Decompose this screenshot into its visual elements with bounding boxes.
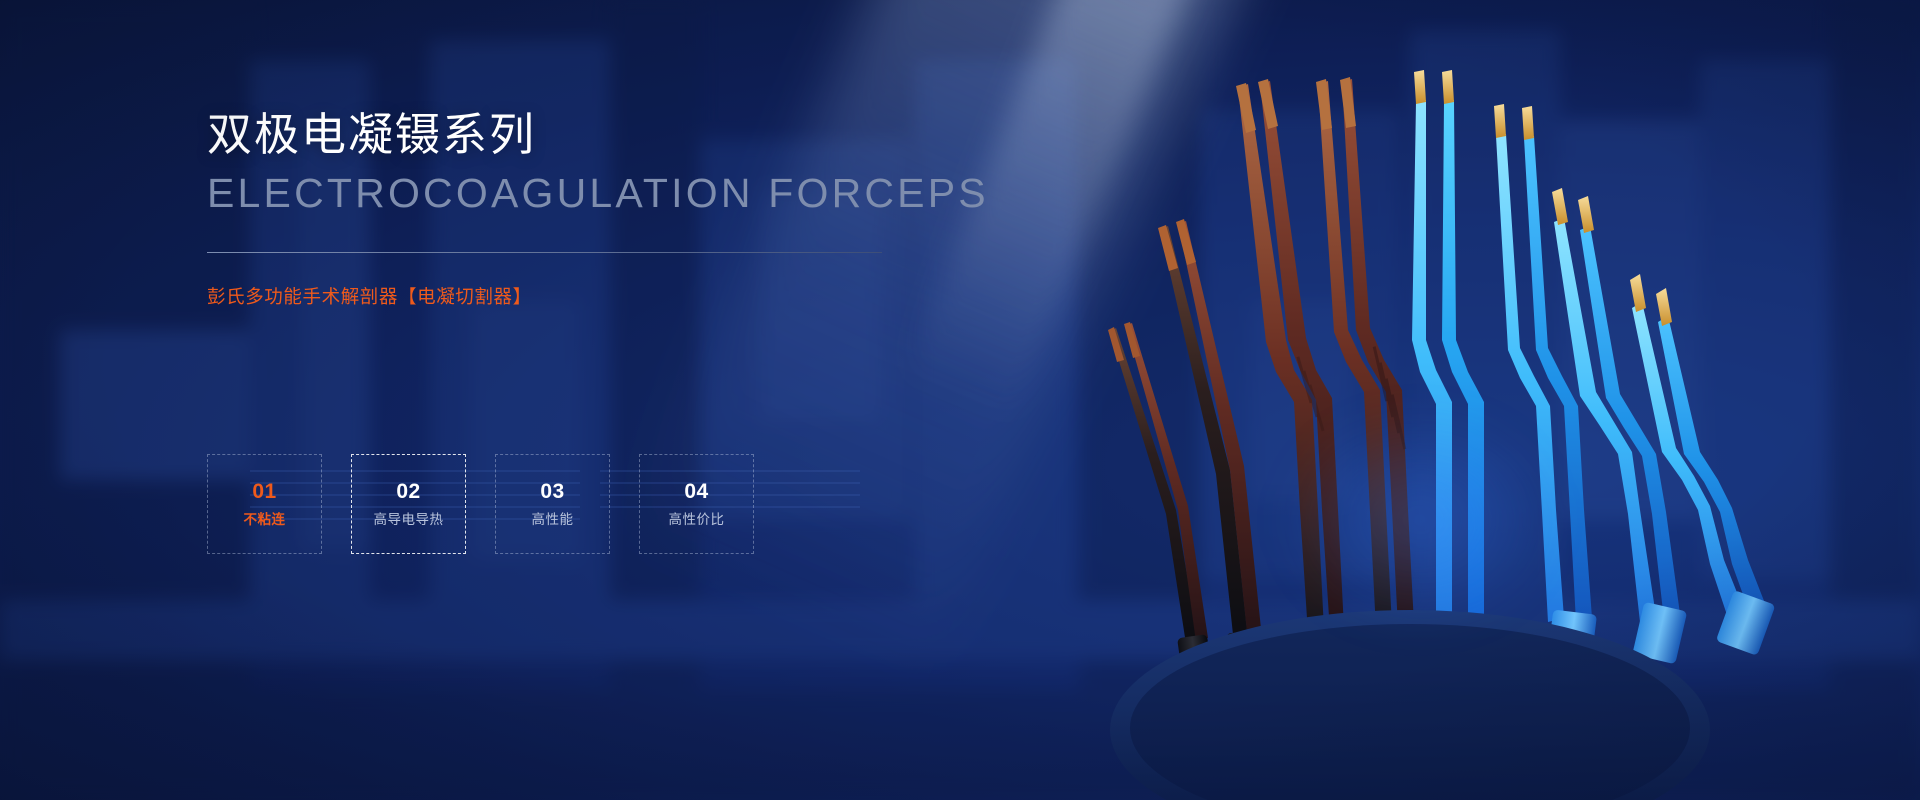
forceps-blue-5 <box>1412 70 1484 668</box>
feature-box-01[interactable]: 01 不粘连 <box>207 454 322 554</box>
feature-number: 03 <box>540 481 564 502</box>
product-banner: 双极电凝镊系列 ELECTROCOAGULATION FORCEPS 彭氏多功能… <box>0 0 1920 800</box>
divider-line <box>207 252 882 253</box>
product-image-forceps-fan <box>1080 40 1640 760</box>
page-title-cn: 双极电凝镊系列 <box>207 110 907 160</box>
forceps-dark-2 <box>1158 219 1262 681</box>
feature-label: 不粘连 <box>244 513 286 527</box>
feature-number: 02 <box>396 481 420 502</box>
feature-box-03[interactable]: 03 高性能 <box>495 454 610 554</box>
page-title-en: ELECTROCOAGULATION FORCEPS <box>207 172 907 215</box>
banner-copy: 双极电凝镊系列 ELECTROCOAGULATION FORCEPS 彭氏多功能… <box>207 110 907 309</box>
feature-label: 高性价比 <box>669 513 725 527</box>
feature-box-04[interactable]: 04 高性价比 <box>639 454 754 554</box>
feature-list: 01 不粘连 02 高导电导热 03 高性能 04 高性价比 <box>207 454 754 554</box>
feature-number: 04 <box>684 481 708 502</box>
feature-label: 高导电导热 <box>374 513 444 527</box>
feature-box-02[interactable]: 02 高导电导热 <box>351 454 466 554</box>
feature-number: 01 <box>252 481 276 502</box>
feature-label: 高性能 <box>532 513 574 527</box>
page-subtitle-cn: 彭氏多功能手术解剖器【电凝切割器】 <box>207 283 907 309</box>
